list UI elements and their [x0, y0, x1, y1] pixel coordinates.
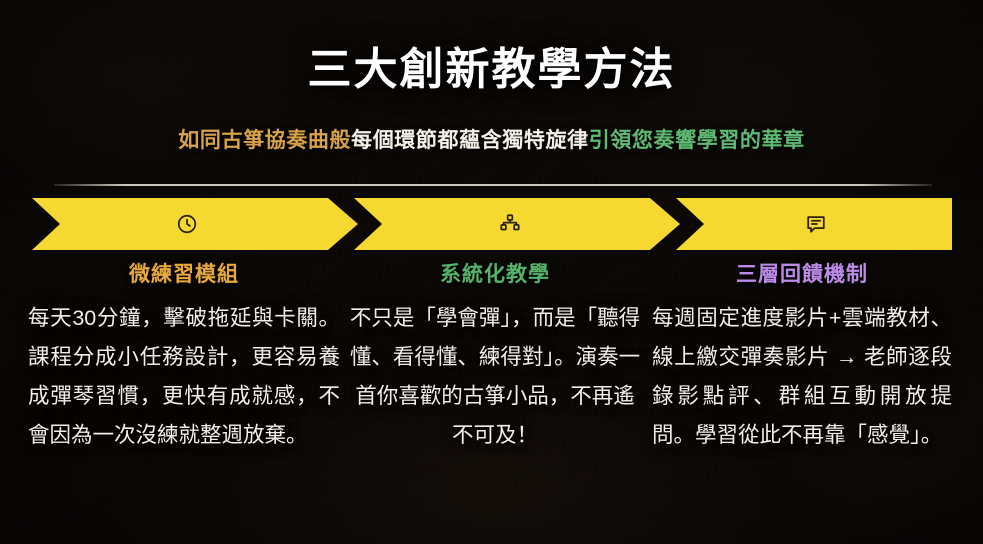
feature-card-body: 不只是「學會彈」，而是「聽得懂、看得懂、練得對」。演奏一首你喜歡的古箏小品，不再…	[345, 299, 645, 455]
feature-card-body: 每天30分鐘，擊破拖延與卡關。課程分成小任務設計，更容易養成彈琴習慣，更快有成就…	[28, 299, 340, 455]
step-chevron-3[interactable]	[676, 198, 952, 250]
page-title: 三大創新教學方法	[0, 33, 983, 97]
subtitle-part-green: 引領您奏響學習的華章	[589, 129, 805, 152]
feature-card-heading: 系統化教學	[345, 258, 645, 288]
feature-card-body: 每週固定進度影片+雲端教材、線上繳交彈奏影片 → 老師逐段錄影點評、群組互動開放…	[652, 299, 952, 455]
subtitle-part-gold: 如同古箏協奏曲般	[178, 129, 351, 152]
step-chevron-2[interactable]	[354, 198, 680, 250]
feature-card-heading: 微練習模組	[28, 258, 340, 288]
step-chevron-1[interactable]	[32, 198, 358, 250]
divider-line	[54, 184, 932, 186]
comment-icon	[805, 213, 827, 235]
page-subtitle: 如同古箏協奏曲般每個環節都蘊含獨特旋律引領您奏響學習的華章	[0, 124, 983, 154]
section-container: 三大創新教學方法 如同古箏協奏曲般每個環節都蘊含獨特旋律引領您奏響學習的華章	[0, 0, 983, 544]
clock-icon	[176, 213, 198, 235]
sitemap-icon	[499, 213, 521, 235]
feature-card: 微練習模組 每天30分鐘，擊破拖延與卡關。課程分成小任務設計，更容易養成彈琴習慣…	[28, 258, 340, 455]
feature-card: 系統化教學 不只是「學會彈」，而是「聽得懂、看得懂、練得對」。演奏一首你喜歡的古…	[345, 258, 645, 455]
feature-card: 三層回饋機制 每週固定進度影片+雲端教材、線上繳交彈奏影片 → 老師逐段錄影點評…	[652, 258, 952, 455]
step-chevron-band	[32, 198, 952, 250]
feature-card-list: 微練習模組 每天30分鐘，擊破拖延與卡關。課程分成小任務設計，更容易養成彈琴習慣…	[0, 258, 983, 528]
feature-card-heading: 三層回饋機制	[652, 258, 952, 288]
subtitle-part-white: 每個環節都蘊含獨特旋律	[351, 129, 589, 152]
